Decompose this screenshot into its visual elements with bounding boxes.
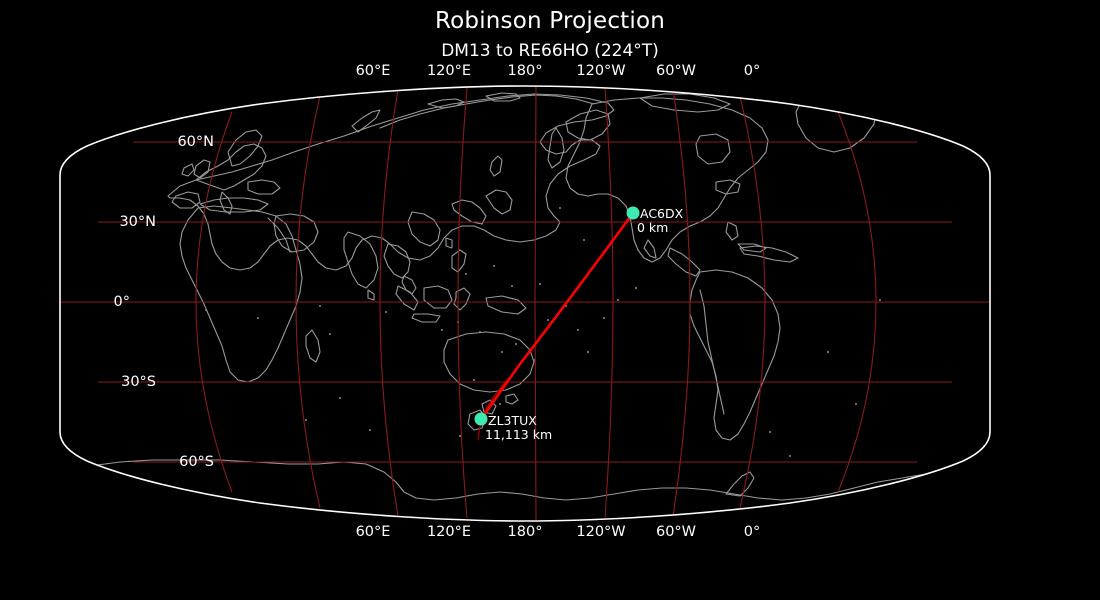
robinson-map-canvas — [0, 0, 1100, 600]
lat-tick-0: 0° — [114, 294, 130, 310]
marker-zl3tux[interactable] — [475, 413, 488, 426]
lon-tick-bottom-120E: 120°E — [427, 524, 471, 540]
label-zl3tux-distance: 11,113 km — [485, 427, 552, 442]
lon-tick-bottom-120W: 120°W — [576, 524, 625, 540]
lat-tick-60N: 60°N — [177, 134, 214, 150]
marker-ac6dx[interactable] — [627, 207, 640, 220]
lon-tick-bottom-60E: 60°E — [356, 524, 391, 540]
lon-tick-top-0: 0° — [744, 63, 760, 79]
lon-tick-bottom-60W: 60°W — [656, 524, 696, 540]
lon-tick-top-180: 180° — [508, 63, 543, 79]
label-ac6dx-callsign: AC6DX — [640, 206, 683, 221]
label-zl3tux-callsign: ZL3TUX — [488, 413, 537, 428]
lon-tick-top-60W: 60°W — [656, 63, 696, 79]
lon-tick-top-120W: 120°W — [576, 63, 625, 79]
lon-tick-bottom-180: 180° — [508, 524, 543, 540]
lat-tick-30S: 30°S — [121, 374, 156, 390]
label-ac6dx-distance: 0 km — [637, 220, 668, 235]
map-figure: Robinson Projection DM13 to RE66HO (224°… — [0, 0, 1100, 600]
lon-tick-top-60E: 60°E — [356, 63, 391, 79]
lon-tick-bottom-0: 0° — [744, 524, 760, 540]
lat-tick-30N: 30°N — [119, 214, 156, 230]
lon-tick-top-120E: 120°E — [427, 63, 471, 79]
lat-tick-60S: 60°S — [179, 454, 214, 470]
